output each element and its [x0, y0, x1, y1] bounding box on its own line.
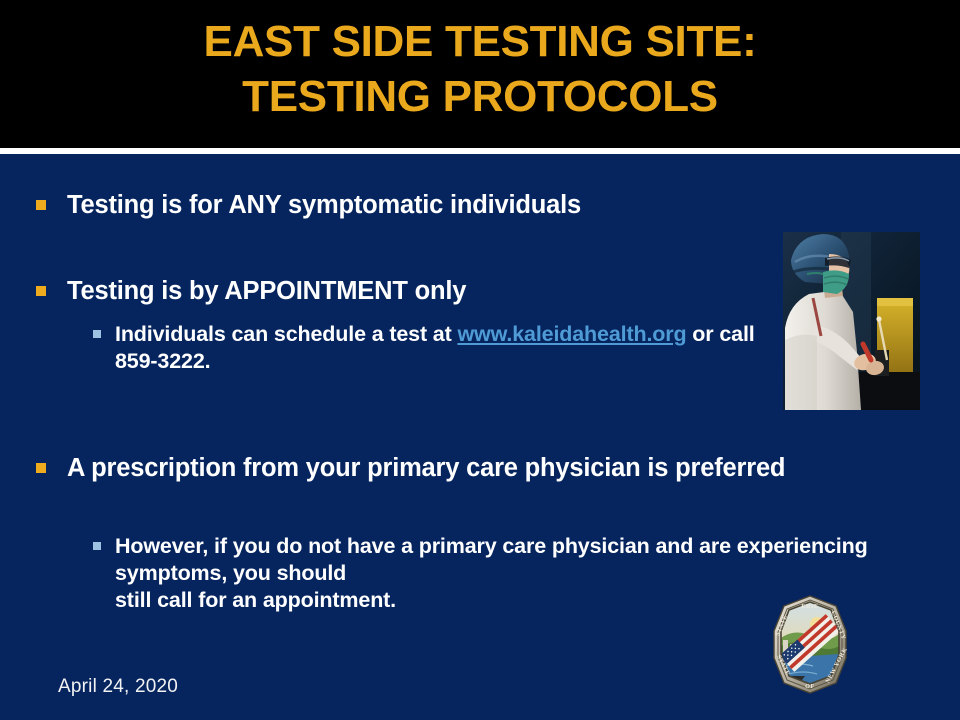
gold-square-bullet-icon: [36, 463, 46, 473]
presentation-slide: EAST SIDE TESTING SITE: TESTING PROTOCOL…: [0, 0, 960, 720]
bullet-item-level1: Testing is by APPOINTMENT only: [67, 276, 767, 306]
erie-county-seal: ERIE COUNTY STATE OF NEW YORK STATE: [755, 588, 865, 698]
blue-square-bullet-icon: [93, 542, 101, 550]
bullet-item-level1: A prescription from your primary care ph…: [67, 453, 867, 483]
blue-square-bullet-icon: [93, 330, 101, 338]
kaleidahealth-link[interactable]: www.kaleidahealth.org: [457, 322, 686, 346]
slide-date: April 24, 2020: [58, 676, 178, 698]
healthcare-worker-photo: [783, 232, 920, 410]
seal-text-top: ERIE: [801, 603, 819, 610]
page-title: EAST SIDE TESTING SITE: TESTING PROTOCOL…: [0, 14, 960, 124]
bullet-text-before-link: Individuals can schedule a test at: [115, 322, 457, 346]
bullet-item-level2: Individuals can schedule a test at www.k…: [115, 321, 755, 375]
bullet-item-level1: Testing is for ANY symptomatic individua…: [67, 190, 827, 220]
bullet-text: A prescription from your primary care ph…: [67, 454, 785, 482]
seal-text-bottom-center: OF: [805, 683, 815, 690]
bullet-text: Testing is for ANY symptomatic individua…: [67, 191, 581, 219]
gold-square-bullet-icon: [36, 200, 46, 210]
bullet-text: Testing is by APPOINTMENT only: [67, 277, 466, 305]
gold-square-bullet-icon: [36, 286, 46, 296]
